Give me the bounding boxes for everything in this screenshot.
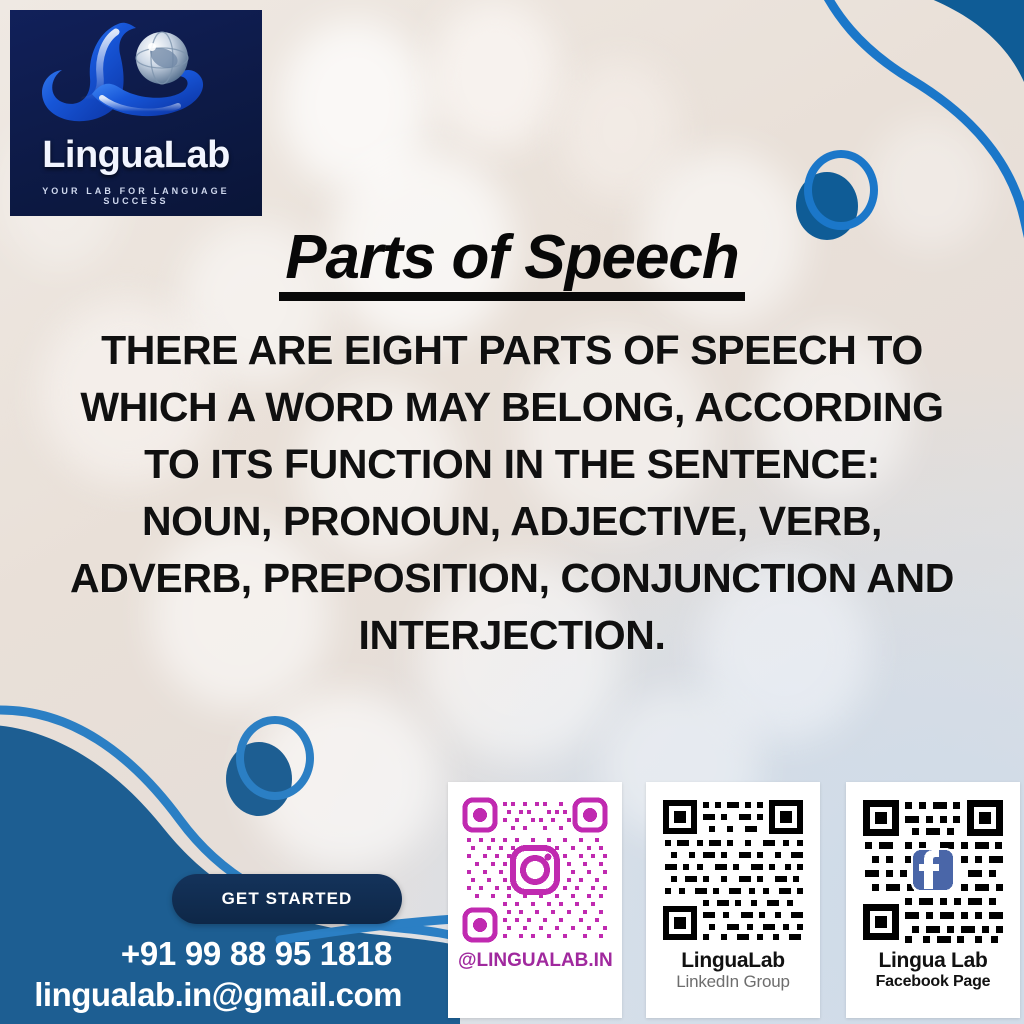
qr-caption-secondary: LinkedIn Group [656,972,810,992]
qr-code-instagram [459,794,611,946]
logo-tagline: YOUR LAB FOR LANGUAGE SUCCESS [10,186,262,206]
facebook-icon [911,848,955,892]
contact-email[interactable]: lingualab.in@gmail.com [0,976,410,1014]
qr-caption-primary: LinguaLab [656,950,810,972]
page-title-text: Parts of Speech [279,226,745,301]
qr-caption-primary: Lingua Lab [856,950,1010,972]
qr-caption-secondary: Facebook Page [856,972,1010,992]
instagram-icon [511,846,559,894]
page-title: Parts of Speech [0,222,1024,301]
body-paragraph-1: THERE ARE EIGHT PARTS OF SPEECH TO WHICH… [80,327,943,487]
logo-wordmark: LinguaLab [10,134,262,177]
contact-phone[interactable]: +91 99 88 95 1818 [0,935,410,973]
poster-canvas: LinguaLab YOUR LAB FOR LANGUAGE SUCCESS … [0,0,1024,1024]
body-paragraph-2: NOUN, PRONOUN, ADJECTIVE, VERB, ADVERB, … [52,493,972,664]
qr-code-linkedin [657,794,809,946]
decorative-circles-bottom-left [222,716,332,831]
lingualab-swoosh-globe-logo [32,16,240,136]
qr-code-facebook [857,794,1009,946]
qr-card-linkedin[interactable]: LinguaLab LinkedIn Group [646,782,820,1018]
qr-card-instagram[interactable]: @LINGUALAB.IN [448,782,622,1018]
lingualab-logo: LinguaLab YOUR LAB FOR LANGUAGE SUCCESS [10,10,262,216]
qr-card-facebook[interactable]: Lingua Lab Facebook Page [846,782,1020,1018]
body-copy: THERE ARE EIGHT PARTS OF SPEECH TO WHICH… [52,322,972,664]
get-started-button[interactable]: GET STARTED [172,874,402,924]
qr-caption-primary: @LINGUALAB.IN [458,950,612,972]
decorative-blob-bottom-left [0,690,460,1024]
